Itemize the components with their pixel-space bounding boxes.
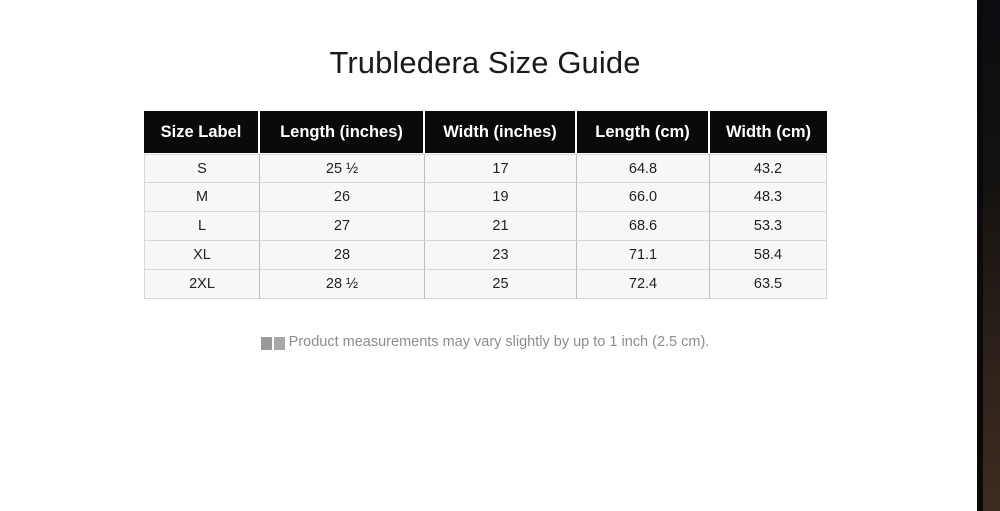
cell-width-cm: 58.4 xyxy=(710,241,827,270)
column-header-width-cm: Width (cm) xyxy=(710,111,827,154)
table-row: S 25 ½ 17 64.8 43.2 xyxy=(144,154,827,183)
column-header-length-inches: Length (inches) xyxy=(260,111,425,154)
cell-size-label: L xyxy=(144,212,260,241)
edge-seam xyxy=(977,0,983,511)
table-row: 2XL 28 ½ 25 72.4 63.5 xyxy=(144,270,827,299)
cell-length-cm: 71.1 xyxy=(577,241,710,270)
page-right-edge-strip xyxy=(977,0,1000,511)
missing-glyph-box-icon xyxy=(261,333,285,353)
column-header-length-cm: Length (cm) xyxy=(577,111,710,154)
table-header-row: Size Label Length (inches) Width (inches… xyxy=(144,111,827,154)
cell-width-in: 23 xyxy=(425,241,577,270)
cell-size-label: XL xyxy=(144,241,260,270)
cell-length-in: 28 ½ xyxy=(260,270,425,299)
table-row: XL 28 23 71.1 58.4 xyxy=(144,241,827,270)
cell-length-in: 28 xyxy=(260,241,425,270)
size-guide-table-container: Size Label Length (inches) Width (inches… xyxy=(144,111,827,299)
cell-width-cm: 63.5 xyxy=(710,270,827,299)
table-row: M 26 19 66.0 48.3 xyxy=(144,183,827,212)
cell-size-label: 2XL xyxy=(144,270,260,299)
cell-size-label: M xyxy=(144,183,260,212)
cell-width-cm: 48.3 xyxy=(710,183,827,212)
page-canvas: Trubledera Size Guide Size Label Length … xyxy=(0,0,1000,511)
cell-length-in: 27 xyxy=(260,212,425,241)
cell-width-in: 25 xyxy=(425,270,577,299)
cell-length-in: 26 xyxy=(260,183,425,212)
measurement-disclaimer: Product measurements may vary slightly b… xyxy=(0,332,970,353)
cell-length-cm: 68.6 xyxy=(577,212,710,241)
cell-width-cm: 43.2 xyxy=(710,154,827,183)
column-header-size-label: Size Label xyxy=(144,111,260,154)
cell-size-label: S xyxy=(144,154,260,183)
table-row: L 27 21 68.6 53.3 xyxy=(144,212,827,241)
cell-length-cm: 64.8 xyxy=(577,154,710,183)
table-body: S 25 ½ 17 64.8 43.2 M 26 19 66.0 48.3 L … xyxy=(144,154,827,299)
cell-length-cm: 72.4 xyxy=(577,270,710,299)
cell-length-in: 25 ½ xyxy=(260,154,425,183)
size-guide-table: Size Label Length (inches) Width (inches… xyxy=(144,111,827,299)
cell-length-cm: 66.0 xyxy=(577,183,710,212)
column-header-width-inches: Width (inches) xyxy=(425,111,577,154)
cell-width-in: 21 xyxy=(425,212,577,241)
cell-width-cm: 53.3 xyxy=(710,212,827,241)
measurement-disclaimer-text: Product measurements may vary slightly b… xyxy=(289,334,710,350)
cell-width-in: 19 xyxy=(425,183,577,212)
page-title: Trubledera Size Guide xyxy=(0,44,970,82)
cell-width-in: 17 xyxy=(425,154,577,183)
table-header: Size Label Length (inches) Width (inches… xyxy=(144,111,827,154)
